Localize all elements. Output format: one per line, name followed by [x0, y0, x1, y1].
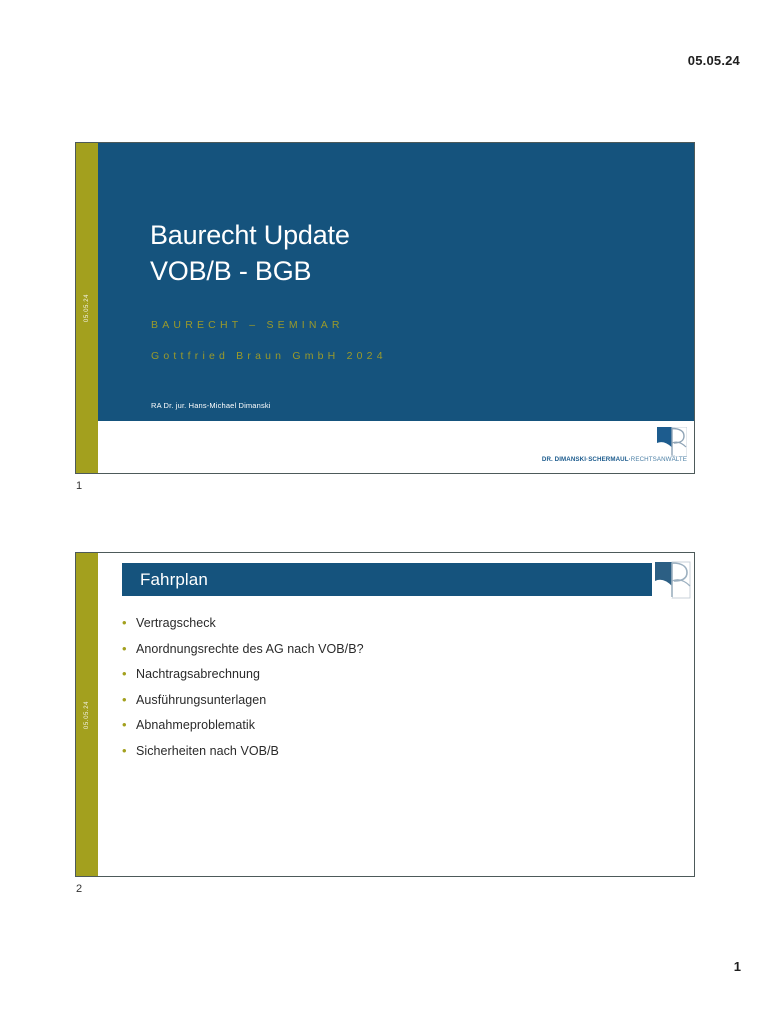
list-item[interactable]: • Ausführungsunterlagen	[122, 693, 674, 707]
slide-1-title-line-1: Baurecht Update	[150, 217, 350, 253]
slide-2[interactable]: 05.05.24 Fahrplan • Vertragscheck • Anor…	[75, 552, 695, 877]
slide-2-heading: Fahrplan	[140, 570, 208, 590]
logo-wordmark-bold: DR. DIMANSKI·SCHERMAUL·	[542, 456, 631, 463]
list-item-label: Vertragscheck	[136, 616, 216, 630]
slide-1-number: 1	[76, 480, 82, 492]
slide-1-subtitle-company: Gottfried Braun GmbH 2024	[151, 350, 387, 362]
slide-1[interactable]: 05.05.24 Baurecht Update VOB/B - BGB BAU…	[75, 142, 695, 474]
slide-1-footer: DR. DIMANSKI·SCHERMAUL·RECHTSANWÄLTE	[98, 423, 694, 473]
list-item[interactable]: • Anordnungsrechte des AG nach VOB/B?	[122, 642, 674, 656]
bullet-marker-icon: •	[122, 616, 136, 629]
document-header-date: 05.05.24	[688, 53, 740, 68]
list-item[interactable]: • Abnahmeproblematik	[122, 718, 674, 732]
slide-2-number: 2	[76, 883, 82, 895]
list-item-label: Nachtragsabrechnung	[136, 667, 260, 681]
slide-1-author: RA Dr. jur. Hans-Michael Dimanski	[151, 401, 271, 410]
list-item[interactable]: • Vertragscheck	[122, 616, 674, 630]
slide-1-navy-panel: Baurecht Update VOB/B - BGB BAURECHT – S…	[98, 143, 694, 421]
document-page-number: 1	[734, 959, 741, 974]
list-item-label: Ausführungsunterlagen	[136, 693, 266, 707]
slide-2-header-bar: Fahrplan	[122, 563, 652, 596]
dimanski-schermaul-logo-icon	[657, 427, 687, 457]
slide-2-bullet-list: • Vertragscheck • Anordnungsrechte des A…	[122, 616, 674, 769]
list-item[interactable]: • Nachtragsabrechnung	[122, 667, 674, 681]
bullet-marker-icon: •	[122, 667, 136, 680]
bullet-marker-icon: •	[122, 718, 136, 731]
bullet-marker-icon: •	[122, 693, 136, 706]
slide-1-olive-sidebar: 05.05.24	[76, 143, 98, 473]
logo-wordmark-thin: RECHTSANWÄLTE	[631, 456, 687, 463]
slide-1-title-line-2: VOB/B - BGB	[150, 253, 350, 289]
list-item-label: Abnahmeproblematik	[136, 718, 255, 732]
list-item-label: Sicherheiten nach VOB/B	[136, 744, 279, 758]
slide-1-subtitle-seminar: BAURECHT – SEMINAR	[151, 319, 344, 331]
list-item[interactable]: • Sicherheiten nach VOB/B	[122, 744, 674, 758]
slide-1-sidebar-date: 05.05.24	[84, 294, 90, 322]
slide-1-logo-wordmark: DR. DIMANSKI·SCHERMAUL·RECHTSANWÄLTE	[542, 456, 687, 463]
slide-2-olive-sidebar: 05.05.24	[76, 553, 98, 876]
slide-2-sidebar-date: 05.05.24	[84, 700, 90, 728]
slide-1-title: Baurecht Update VOB/B - BGB	[150, 217, 350, 290]
bullet-marker-icon: •	[122, 642, 136, 655]
dimanski-schermaul-logo-icon	[653, 560, 693, 600]
bullet-marker-icon: •	[122, 744, 136, 757]
list-item-label: Anordnungsrechte des AG nach VOB/B?	[136, 642, 364, 656]
